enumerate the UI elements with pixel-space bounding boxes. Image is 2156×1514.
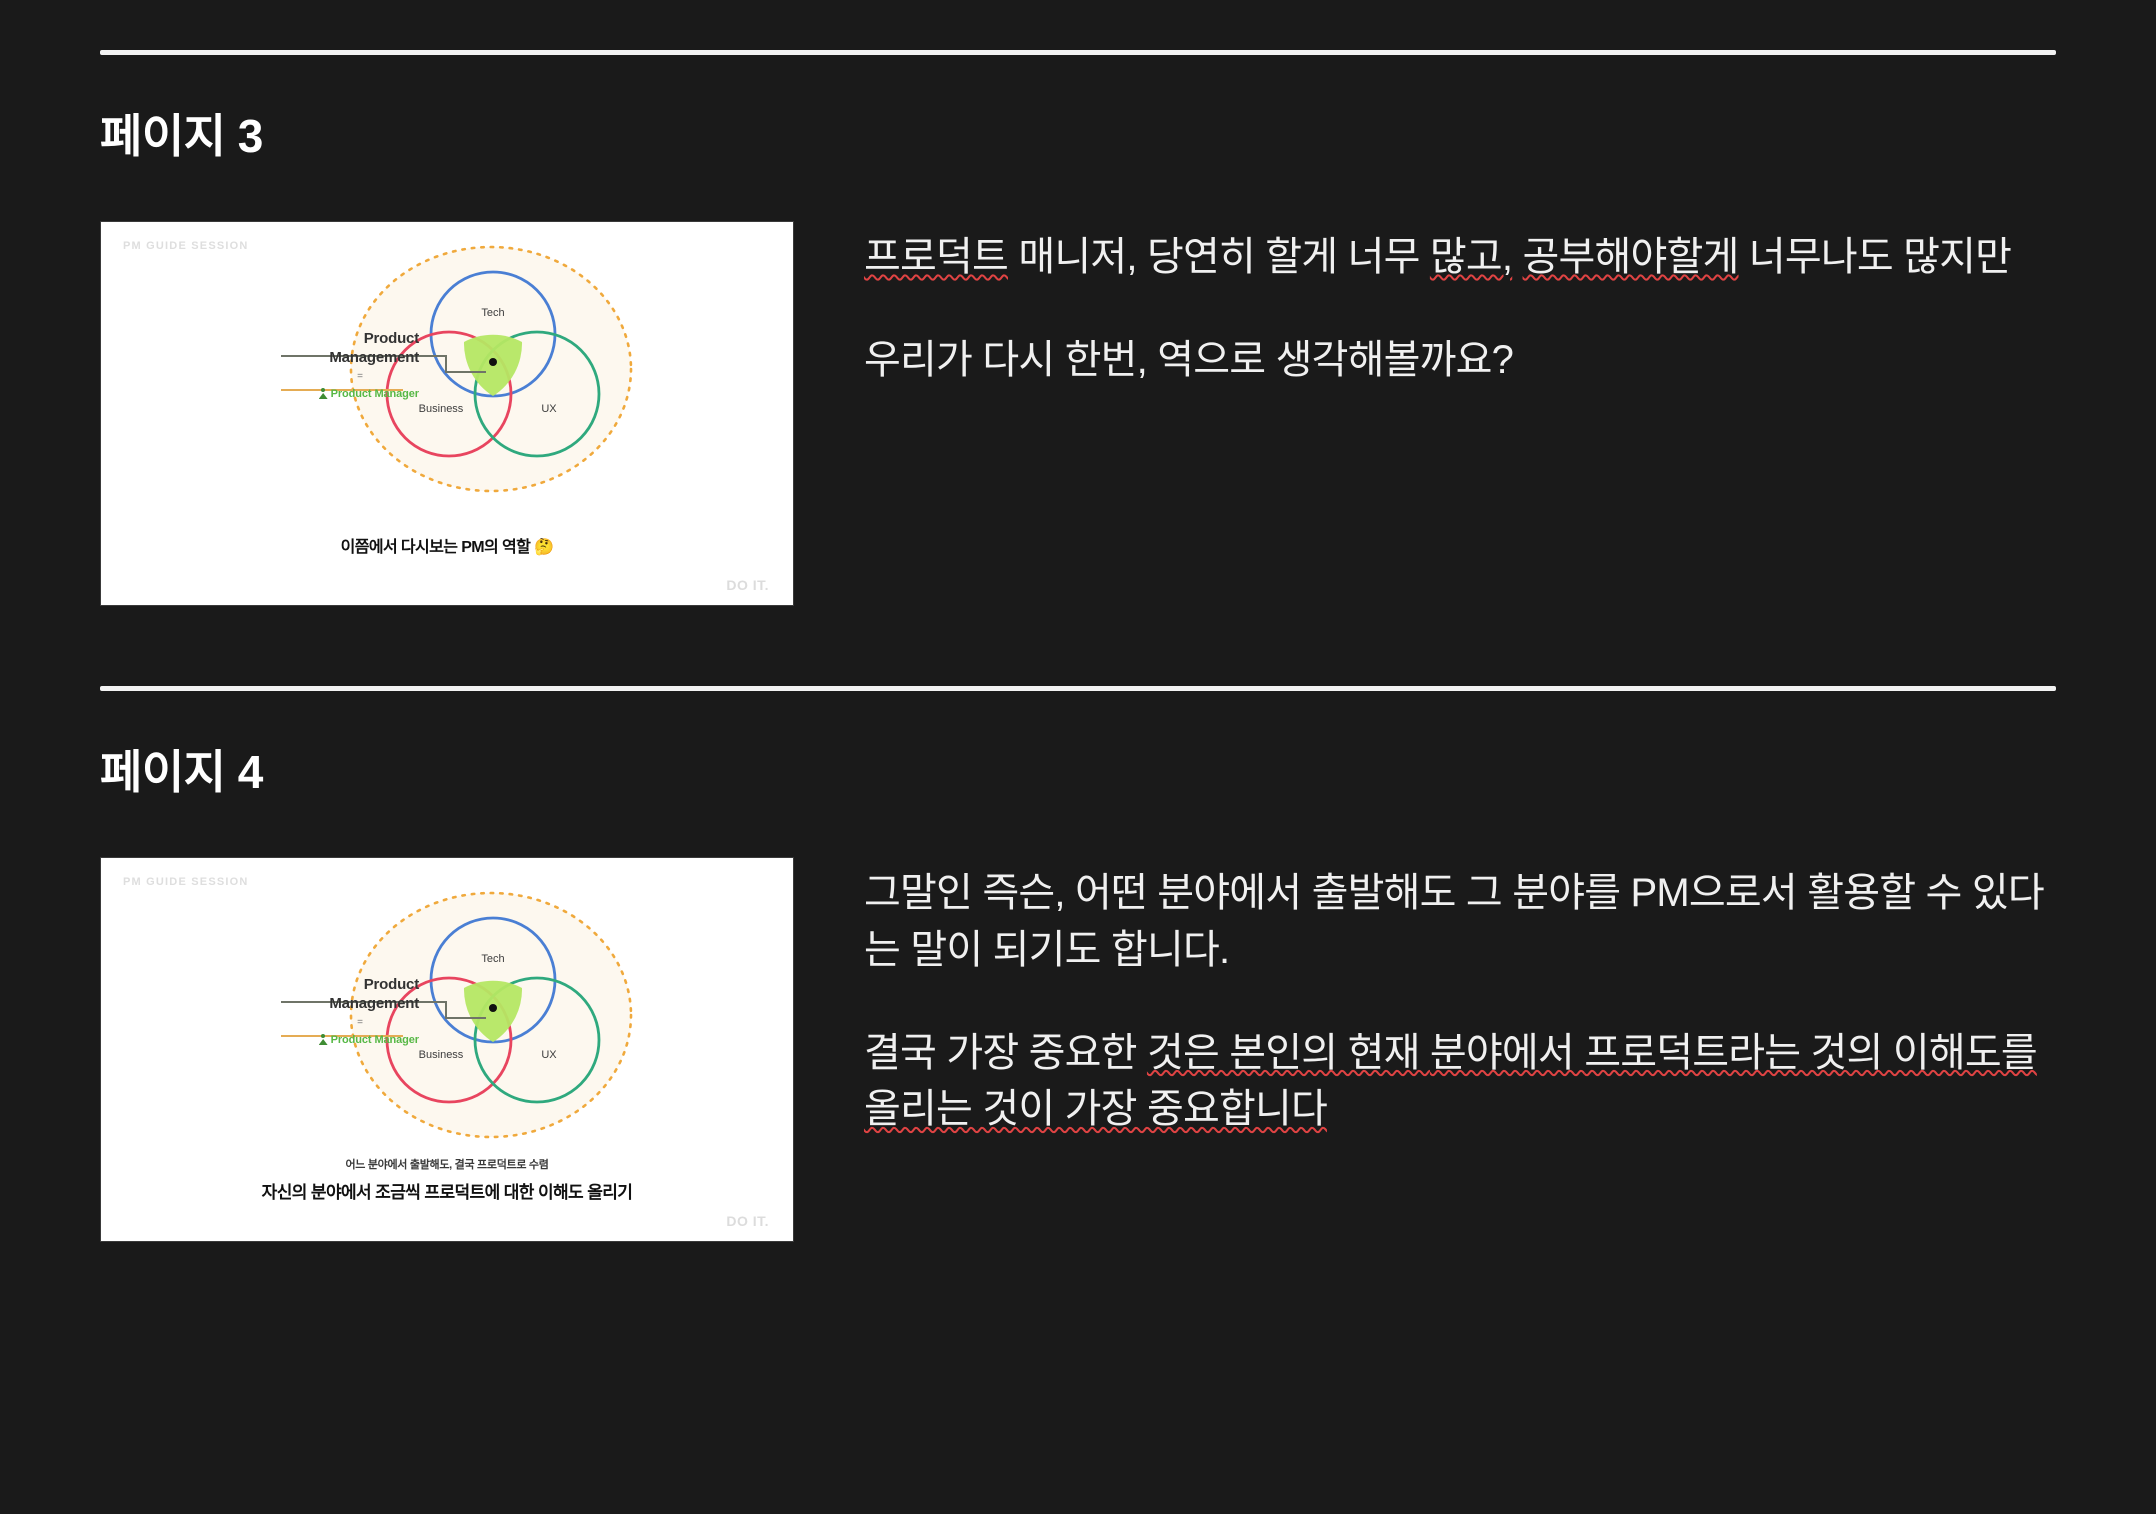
text-run: 것은 본인의 현재: [1147, 1031, 1430, 1075]
page-title-3: 페이지 3: [100, 113, 2056, 159]
text-run: 그말인 즉슨, 어떤 분야에서 출발해도 그 분야를 PM으로서 활용할 수 있…: [864, 871, 2044, 972]
venn-label-ux: UX: [541, 1049, 557, 1061]
venn-label-tech: Tech: [481, 953, 504, 965]
pm-label-product: Product: [219, 976, 419, 995]
section-page-4: 페이지 4 PM GUIDE SESSION Tech: [0, 691, 2156, 1242]
pm-role-row: Product Manager: [219, 388, 419, 400]
page-title-4: 페이지 4: [100, 749, 2056, 795]
slide-caption-sub: 어느 분야에서 출발해도, 결국 프로덕트로 수렴: [101, 1156, 793, 1172]
pm-role-label: Product Manager: [331, 1034, 419, 1046]
venn-label-business: Business: [419, 1049, 464, 1061]
pm-equals-symbol: =: [219, 1018, 363, 1028]
paragraph: 결국 가장 중요한 것은 본인의 현재 분야에서 프로덕트라는 것의 이해도를 …: [864, 1025, 2056, 1139]
pm-role-label: Product Manager: [331, 388, 419, 400]
slide-footer-label: DO IT.: [726, 577, 769, 593]
pm-definition-labels: Product Management = Product Manager: [219, 330, 419, 400]
slide-caption-main: 이쯤에서 다시보는 PM의 역할 🤔: [101, 533, 793, 557]
section-body-3: PM GUIDE SESSION Tech Business: [100, 221, 2056, 606]
text-run: [1512, 235, 1522, 279]
pm-label-management: Management: [219, 349, 419, 368]
text-run: 결국 가장 중요한: [864, 1031, 1147, 1075]
pm-definition-labels: Product Management = Product Manager: [219, 976, 419, 1046]
paragraph: 그말인 즉슨, 어떤 분야에서 출발해도 그 분야를 PM으로서 활용할 수 있…: [864, 865, 2056, 979]
paragraph: 우리가 다시 한번, 역으로 생각해볼까요?: [864, 332, 2056, 389]
paragraph: 프로덕트 매니저, 당연히 할게 너무 많고, 공부해야할게 너무나도 많지만: [864, 229, 2056, 286]
text-run: 너무나도 많지만: [1739, 235, 2012, 279]
person-icon: [319, 388, 328, 399]
slide-caption-3: 이쯤에서 다시보는 PM의 역할 🤔: [101, 533, 793, 557]
text-run: 매니저, 당연히 할게 너무: [1008, 235, 1430, 279]
text-run: 우리가 다시 한번, 역으로 생각해볼까요?: [864, 338, 1513, 382]
page-root: 페이지 3 PM GUIDE SESSION: [0, 0, 2156, 1514]
section-page-3: 페이지 3 PM GUIDE SESSION: [0, 55, 2156, 686]
slide-thumbnail-page-4[interactable]: PM GUIDE SESSION Tech Business UX: [100, 857, 794, 1242]
slide-thumbnail-page-3[interactable]: PM GUIDE SESSION Tech Business: [100, 221, 794, 606]
text-run: 공부해야할게: [1523, 235, 1739, 279]
section-body-4: PM GUIDE SESSION Tech Business UX: [100, 857, 2056, 1242]
text-run: 프로덕트: [864, 235, 1008, 279]
slide-footer-label: DO IT.: [726, 1213, 769, 1229]
body-text-page-3: 프로덕트 매니저, 당연히 할게 너무 많고, 공부해야할게 너무나도 많지만 …: [864, 221, 2056, 389]
pm-label-product: Product: [219, 330, 419, 349]
pm-equals-symbol: =: [219, 372, 363, 382]
text-run: 많고,: [1430, 235, 1512, 279]
venn-label-business: Business: [419, 403, 464, 415]
pm-role-row: Product Manager: [219, 1034, 419, 1046]
pm-label-management: Management: [219, 995, 419, 1014]
text-run: 분야에서: [1430, 1031, 1584, 1075]
person-icon: [319, 1034, 328, 1045]
slide-caption-main: 자신의 분야에서 조금씩 프로덕트에 대한 이해도 올리기: [101, 1178, 793, 1203]
venn-label-tech: Tech: [481, 307, 504, 319]
slide-caption-4: 어느 분야에서 출발해도, 결국 프로덕트로 수렴 자신의 분야에서 조금씩 프…: [101, 1156, 793, 1203]
venn-label-ux: UX: [541, 403, 557, 415]
body-text-page-4: 그말인 즉슨, 어떤 분야에서 출발해도 그 분야를 PM으로서 활용할 수 있…: [864, 857, 2056, 1138]
